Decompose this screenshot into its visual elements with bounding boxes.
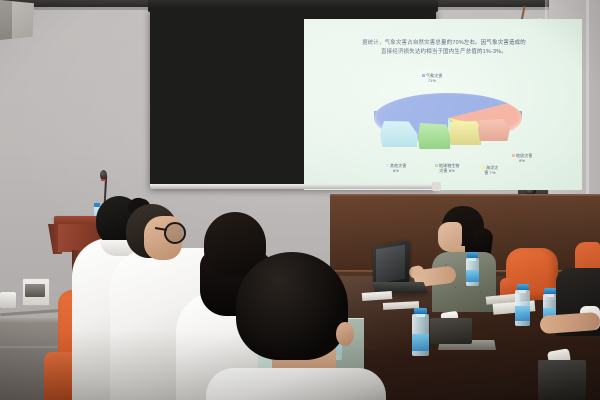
water-bottle-icon (466, 252, 479, 286)
floor-outlet-box (0, 292, 16, 308)
bottle-label (515, 306, 530, 321)
foreground-shadow (0, 330, 600, 400)
bottle-label (466, 270, 479, 282)
projection-screen-bottom-bar (150, 184, 438, 189)
wall-vent-louvers (25, 284, 45, 297)
bottle-cap (517, 284, 529, 290)
projection-screen-frame: 据统计，气象灾害占自然灾害总量的70%左右。因气象灾害造成的 直接经济损失达约相… (150, 8, 436, 188)
bottle-cap (467, 252, 477, 258)
projection-screen-surface: 据统计，气象灾害占自然灾害总量的70%左右。因气象灾害造成的 直接经济损失达约相… (304, 19, 582, 190)
glasses-icon (164, 222, 186, 244)
bottle-cap (414, 308, 428, 314)
bottle-cap (544, 288, 555, 294)
conference-room-photo: 据统计，气象灾害占自然灾害总量的70%左右。因气象灾害造成的 直接经济损失达约相… (0, 0, 600, 400)
screen-glare (304, 19, 582, 190)
laptop-screen (376, 245, 405, 284)
speaker-icon (0, 0, 34, 40)
speaker-side-panel (0, 0, 12, 40)
projection-screen-endcap (432, 182, 441, 191)
water-bottle-icon (515, 284, 530, 326)
